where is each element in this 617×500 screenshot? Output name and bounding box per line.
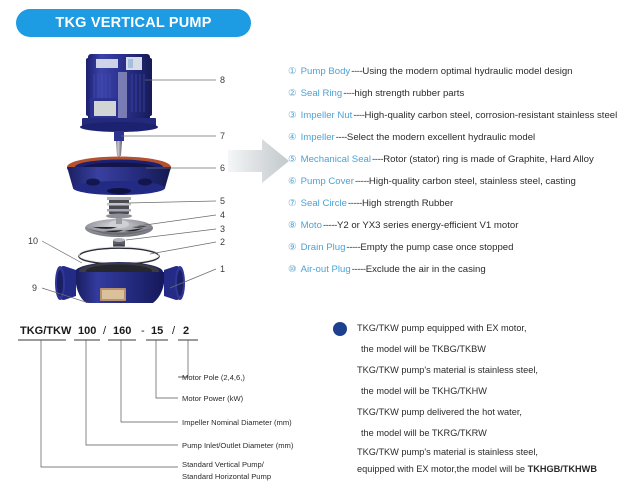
pump-part-mechanical-seal — [106, 197, 132, 219]
model-label-impeller-dia: Impeller Nominal Diameter (mm) — [182, 418, 292, 427]
component-name: Mechanical Seal — [301, 154, 371, 165]
component-index-badge: ⑦ — [288, 198, 297, 209]
component-description: Empty the pump case once stopped — [360, 242, 513, 253]
component-dash: ---- — [372, 154, 383, 165]
variant-note-line: TKG/TKW pump equipped with EX motor, — [357, 318, 613, 339]
component-description: high strength rubber parts — [354, 88, 464, 99]
model-label-standard-h: Standard Horizontal Pump — [182, 472, 271, 481]
model-code-breakdown: TKG/TKW 100 / 160 - 15 / 2 Motor Pole (2… — [8, 312, 328, 494]
component-index-badge: ⑤ — [288, 154, 297, 165]
component-legend-list: ①Pump Body ----Using the modern optimal … — [288, 60, 614, 280]
page-title: TKG VERTICAL PUMP — [55, 15, 211, 31]
component-name: Seal Ring — [301, 88, 343, 99]
component-legend-item: ④Impeller ----Select the modern excellen… — [288, 126, 614, 148]
component-name: Impeller — [301, 132, 335, 143]
component-dash: ----- — [355, 176, 369, 187]
svg-text:10: 10 — [28, 236, 38, 246]
variant-note-line: the model will be TKBG/TKBW — [357, 339, 613, 360]
component-dash: ----- — [352, 264, 366, 275]
svg-text:4: 4 — [220, 210, 225, 220]
svg-text:1: 1 — [220, 264, 225, 274]
flow-arrow-icon — [228, 136, 290, 186]
component-legend-item: ⑤Mechanical Seal ----Rotor (stator) ring… — [288, 148, 614, 170]
model-token-power: 15 — [151, 325, 163, 337]
variant-note-text: TKG/TKW pump's material is stainless ste… — [357, 447, 538, 457]
svg-text:6: 6 — [220, 163, 225, 173]
bullet-dot-icon — [333, 322, 347, 336]
svg-text:7: 7 — [220, 131, 225, 141]
component-name: Impeller Nut — [301, 110, 353, 121]
component-name: Drain Plug — [301, 242, 346, 253]
pump-part-body — [55, 262, 185, 303]
component-legend-item: ③Impeller Nut ----High-quality carbon st… — [288, 104, 614, 126]
component-dash: ---- — [351, 66, 362, 77]
variant-note-text: the model will be TKHG/TKHW — [361, 386, 487, 396]
component-description: Select the modern excellent hydraulic mo… — [347, 132, 535, 143]
variant-note-text: TKG/TKW pump delivered the hot water, — [357, 407, 522, 417]
variant-note-text: TKG/TKW pump equipped with EX motor, — [357, 323, 527, 333]
model-separator-1: / — [103, 325, 107, 337]
component-description: High-quality carbon steel, stainless ste… — [369, 176, 576, 187]
component-dash: ----- — [348, 198, 362, 209]
component-dash: ---- — [353, 110, 364, 121]
component-legend-item: ①Pump Body ----Using the modern optimal … — [288, 60, 614, 82]
component-description: Rotor (stator) ring is made of Graphite,… — [383, 154, 594, 165]
svg-text:9: 9 — [32, 283, 37, 293]
svg-text:5: 5 — [220, 196, 225, 206]
component-description: High strength Rubber — [362, 198, 453, 209]
svg-text:2: 2 — [220, 237, 225, 247]
variant-note-line: TKG/TKW pump delivered the hot water, — [357, 402, 613, 423]
variant-note-line: the model will be TKHG/TKHW — [357, 381, 613, 402]
variant-note-line: the model will be TKRG/TKRW — [357, 423, 613, 444]
component-legend-item: ⑧Moto -----Y2 or YX3 series energy-effic… — [288, 214, 614, 236]
pump-part-motor — [80, 54, 158, 170]
model-token-inlet: 100 — [78, 325, 96, 337]
component-index-badge: ③ — [288, 110, 297, 121]
svg-text:3: 3 — [220, 224, 225, 234]
component-index-badge: ⑩ — [288, 264, 297, 275]
component-name: Moto — [301, 220, 322, 231]
model-variant-notes: TKG/TKW pump equipped with EX motor,the … — [333, 318, 613, 478]
component-index-badge: ④ — [288, 132, 297, 143]
component-name: Seal Circle — [301, 198, 347, 209]
variant-note-line: equipped with EX motor,the model will be… — [357, 461, 613, 478]
component-dash: ---- — [343, 88, 354, 99]
svg-text:8: 8 — [220, 75, 225, 85]
component-name: Pump Body — [301, 66, 351, 77]
variant-note-text: equipped with EX motor,the model will be — [357, 464, 528, 474]
pump-part-seal-ring — [79, 247, 159, 264]
component-index-badge: ⑥ — [288, 176, 297, 187]
variant-note-line: TKG/TKW pump's material is stainless ste… — [357, 360, 613, 381]
variant-note-text: the model will be TKRG/TKRW — [361, 428, 487, 438]
component-index-badge: ⑨ — [288, 242, 297, 253]
component-description: High-quality carbon steel, corrosion-res… — [365, 110, 617, 121]
component-name: Air-out Plug — [301, 264, 351, 275]
model-token-pole: 2 — [183, 325, 189, 337]
component-dash: ----- — [346, 242, 360, 253]
model-token-impeller: 160 — [113, 325, 131, 337]
model-separator-2: - — [141, 325, 145, 337]
model-label-motor-power: Motor Power (kW) — [182, 394, 244, 403]
component-legend-item: ⑨Drain Plug -----Empty the pump case onc… — [288, 236, 614, 258]
variant-note-model-code: TKHGB/TKHWB — [528, 464, 597, 474]
component-legend-item: ⑥Pump Cover -----High-quality carbon ste… — [288, 170, 614, 192]
component-index-badge: ② — [288, 88, 297, 99]
page-title-banner: TKG VERTICAL PUMP — [16, 9, 251, 37]
component-legend-item: ⑩Air-out Plug -----Exclude the air in th… — [288, 258, 614, 280]
variant-line-list: TKG/TKW pump equipped with EX motor,the … — [357, 318, 613, 478]
model-label-standard-v: Standard Vertical Pump/ — [182, 460, 265, 469]
component-index-badge: ⑧ — [288, 220, 297, 231]
component-description: Using the modern optimal hydraulic model… — [362, 66, 572, 77]
pump-part-impeller — [85, 218, 153, 237]
variant-note-line: TKG/TKW pump's material is stainless ste… — [357, 444, 613, 461]
component-description: Y2 or YX3 series energy-efficient V1 mot… — [337, 220, 519, 231]
component-dash: ----- — [323, 220, 337, 231]
model-label-motor-pole: Motor Pole (2,4,6,) — [182, 373, 245, 382]
component-legend-item: ⑦Seal Circle -----High strength Rubber — [288, 192, 614, 214]
component-name: Pump Cover — [301, 176, 354, 187]
model-separator-3: / — [172, 325, 176, 337]
model-label-inlet-dia: Pump Inlet/Outlet Diameter (mm) — [182, 441, 294, 450]
component-description: Exclude the air in the casing — [366, 264, 486, 275]
model-token-series: TKG/TKW — [20, 325, 72, 337]
variant-note-text: TKG/TKW pump's material is stainless ste… — [357, 365, 538, 375]
component-index-badge: ① — [288, 66, 297, 77]
component-legend-item: ②Seal Ring ----high strength rubber part… — [288, 82, 614, 104]
component-dash: ---- — [336, 132, 347, 143]
pump-part-cover — [67, 157, 171, 196]
variant-note-text: the model will be TKBG/TKBW — [361, 344, 486, 354]
